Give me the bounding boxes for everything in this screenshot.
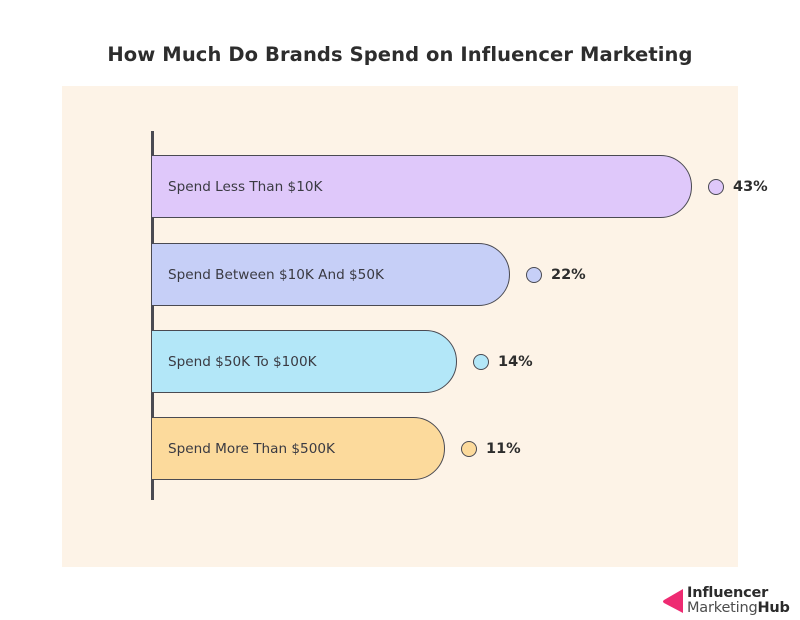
value-dot-icon [461,441,477,457]
logo-line-marketinghub: MarketingHub [687,601,790,616]
bar-label: Spend More Than $500K [152,441,335,457]
bar-spend-more-than-500k[interactable]: Spend More Than $500K [151,417,445,480]
bar-label: Spend Between $10K And $50K [152,267,384,283]
bar-value-label: 22% [551,267,586,283]
logo-line-influencer: Influencer [687,586,790,601]
logo-marketing-text: Marketing [687,600,757,616]
chart-panel: Spend Less Than $10K 43% Spend Between $… [62,86,738,567]
plot-area: Spend Less Than $10K 43% Spend Between $… [62,86,738,567]
chart-title: How Much Do Brands Spend on Influencer M… [0,43,800,66]
chart-page: How Much Do Brands Spend on Influencer M… [0,0,800,620]
value-dot-icon [708,179,724,195]
bar-value-label: 11% [486,441,521,457]
bar-value-group: 43% [708,179,768,195]
bar-label: Spend Less Than $10K [152,179,322,195]
bar-value-label: 14% [498,354,533,370]
influencer-marketing-hub-logo: Influencer MarketingHub [662,586,790,616]
value-dot-icon [473,354,489,370]
bar-label: Spend $50K To $100K [152,354,317,370]
bar-value-group: 22% [526,267,586,283]
bar-spend-50k-to-100k[interactable]: Spend $50K To $100K [151,330,457,393]
logo-wordmark: Influencer MarketingHub [687,586,790,616]
bar-spend-less-than-10k[interactable]: Spend Less Than $10K [151,155,692,218]
bar-spend-between-10k-and-50k[interactable]: Spend Between $10K And $50K [151,243,510,306]
bar-value-group: 11% [461,441,521,457]
pink-arrow-icon [662,586,684,616]
bar-value-group: 14% [473,354,533,370]
bar-value-label: 43% [733,179,768,195]
value-dot-icon [526,267,542,283]
logo-hub-text: Hub [757,600,789,616]
